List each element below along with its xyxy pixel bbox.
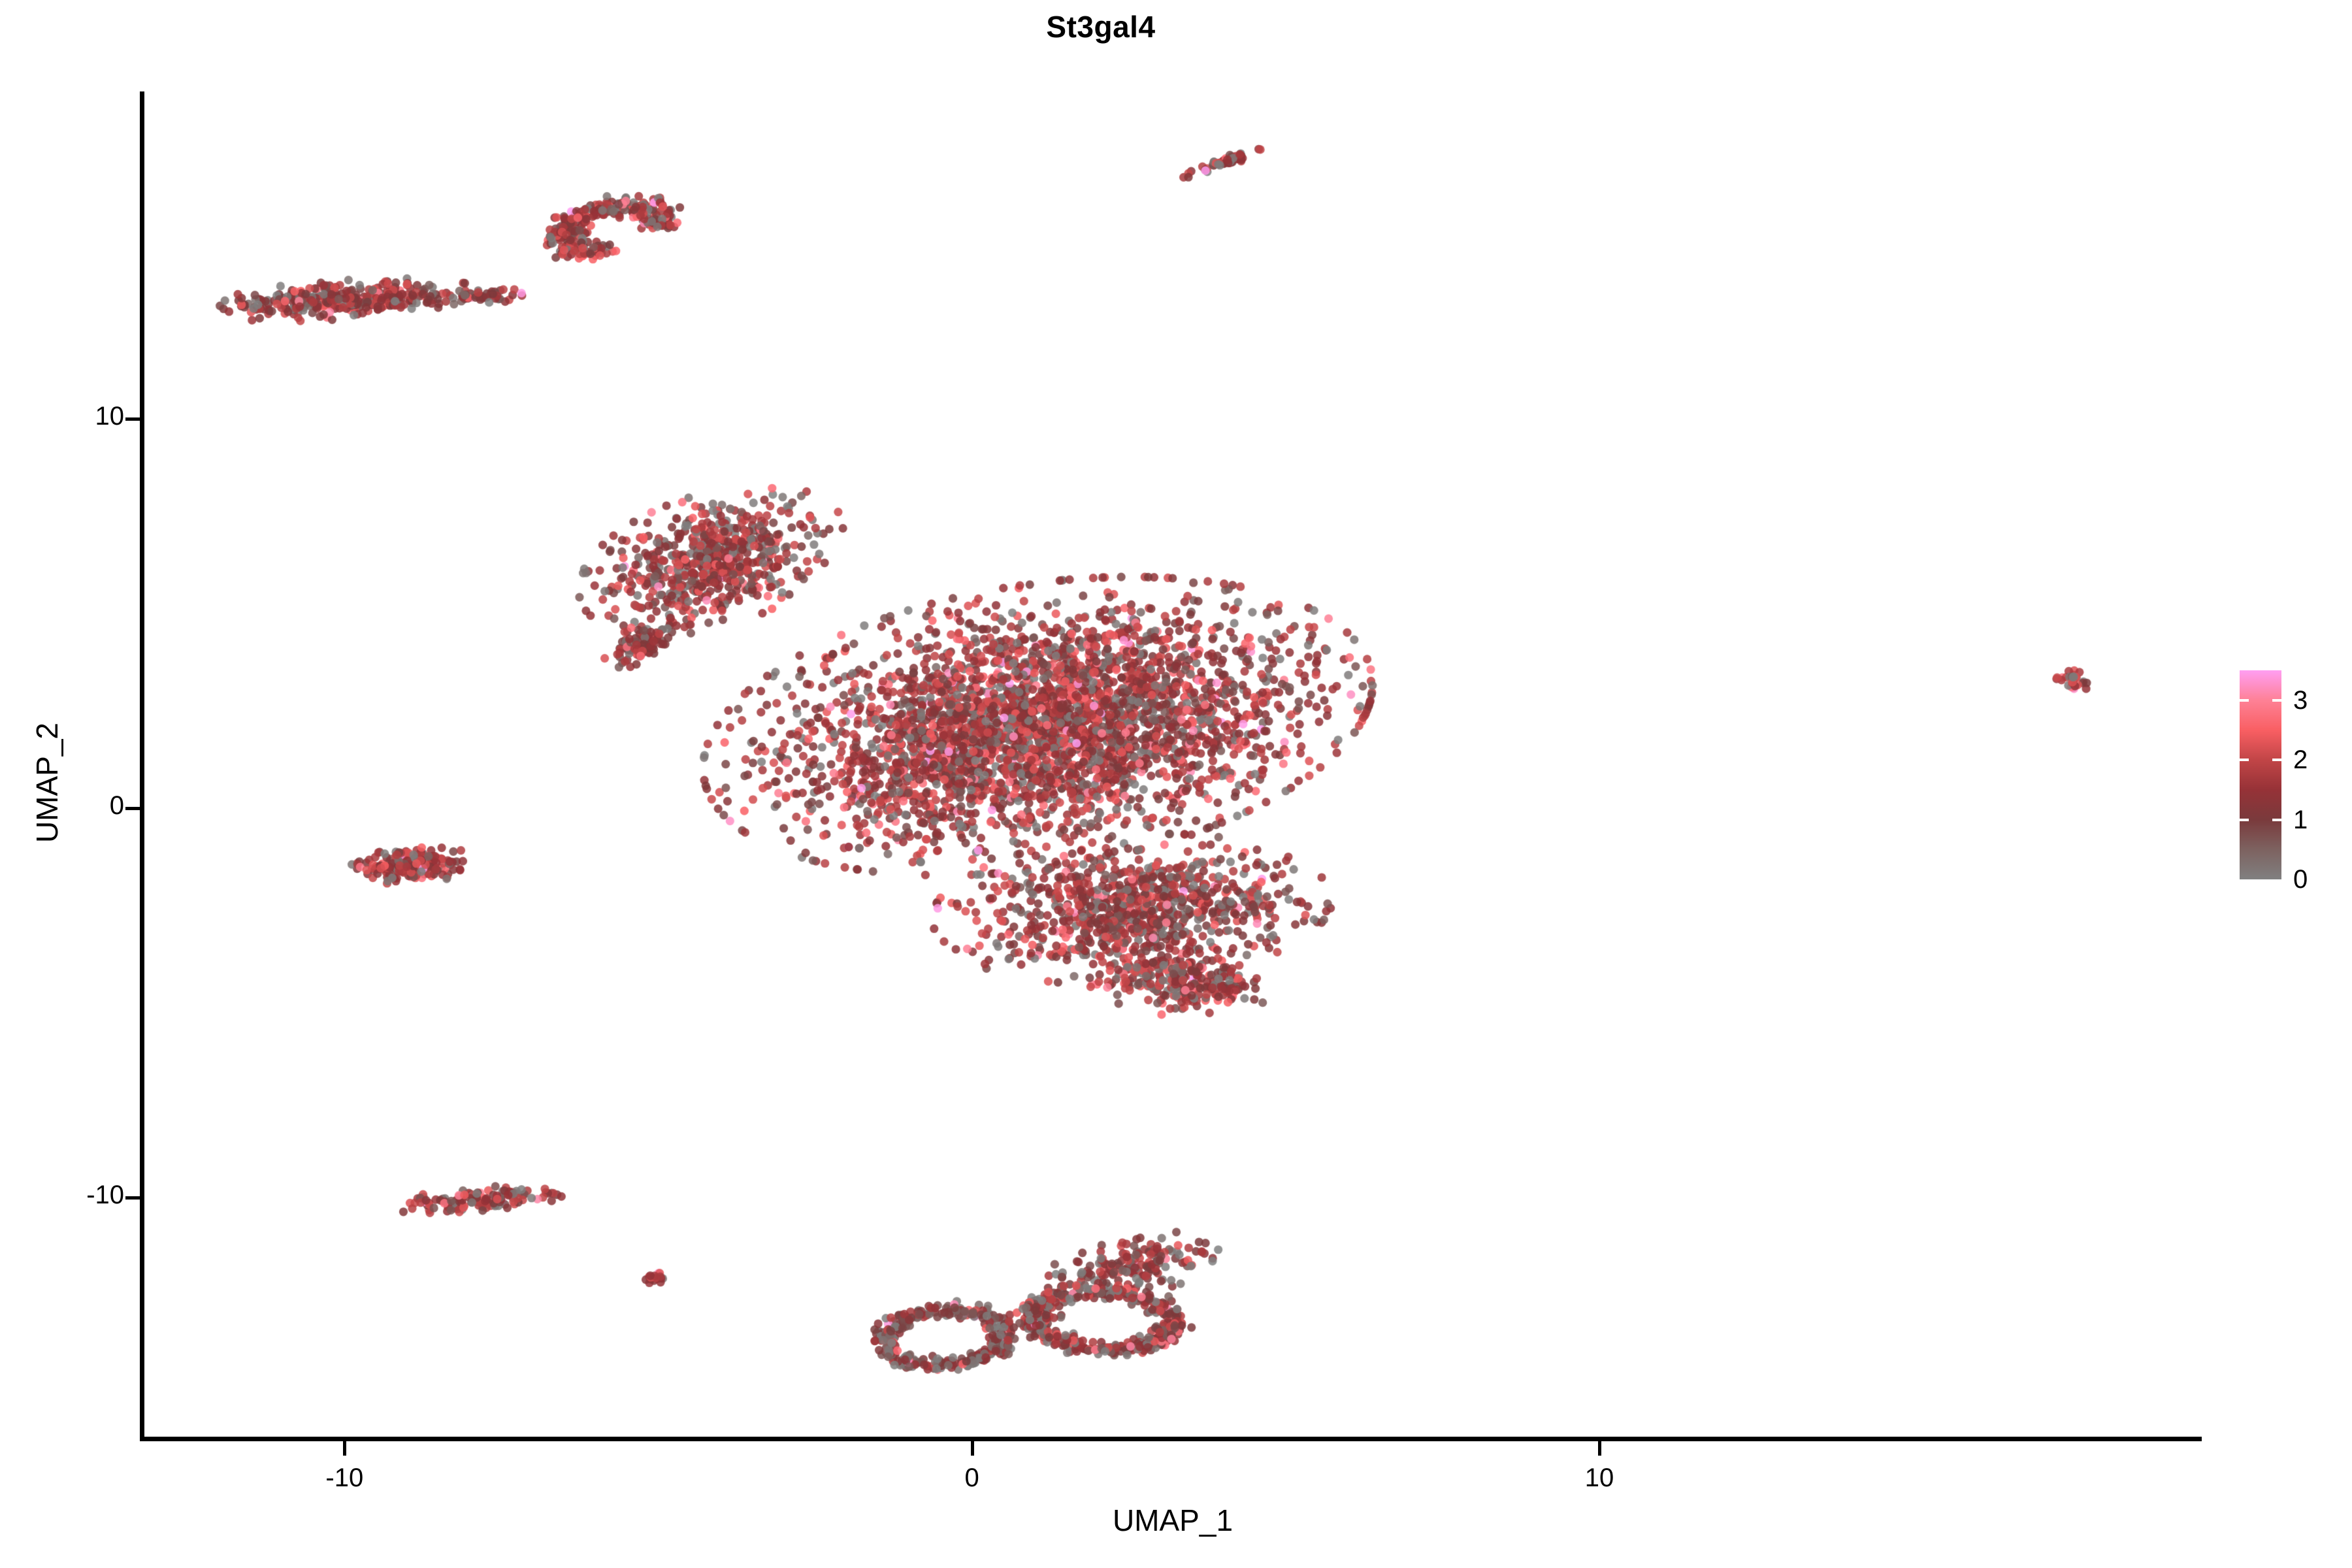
colorbar-tick-label: 0	[2293, 866, 2308, 892]
colorbar-tick-mark	[2272, 819, 2281, 821]
x-tick-label: -10	[266, 1463, 423, 1493]
colorbar-tick-label: 1	[2293, 807, 2308, 833]
y-axis-line	[140, 91, 144, 1441]
y-tick-label: -10	[86, 1181, 124, 1210]
y-tick-mark	[125, 417, 140, 421]
y-tick-label: 0	[110, 791, 124, 821]
colorbar-tick-mark	[2272, 699, 2281, 702]
y-tick-label: 10	[95, 402, 125, 431]
y-tick-mark	[125, 807, 140, 810]
y-axis-title: UMAP_2	[29, 587, 65, 979]
colorbar-tick-label: 2	[2293, 747, 2308, 773]
x-tick-mark	[971, 1441, 974, 1456]
scatter-points-layer	[144, 91, 2202, 1439]
colorbar-tick-mark	[2240, 699, 2249, 702]
colorbar-tick-mark	[2240, 759, 2249, 761]
x-tick-label: 0	[894, 1463, 1051, 1493]
colorbar-tick-mark	[2240, 819, 2249, 821]
colorbar-tick-label: 3	[2293, 687, 2308, 713]
colorbar-legend: 3210	[2240, 670, 2338, 892]
x-axis-line	[140, 1437, 2202, 1441]
colorbar-tick-mark	[2272, 759, 2281, 761]
x-tick-mark	[1598, 1441, 1601, 1456]
page-title: St3gal4	[0, 9, 2202, 44]
x-axis-title: UMAP_1	[144, 1503, 2202, 1538]
chart-root: St3gal4 100-10 -10010 UMAP_2 UMAP_1 3210	[0, 0, 2352, 1568]
plot-panel	[144, 91, 2202, 1439]
colorbar-gradient	[2240, 670, 2281, 879]
x-tick-mark	[343, 1441, 346, 1456]
y-tick-mark	[125, 1196, 140, 1200]
x-tick-label: 10	[1521, 1463, 1678, 1493]
